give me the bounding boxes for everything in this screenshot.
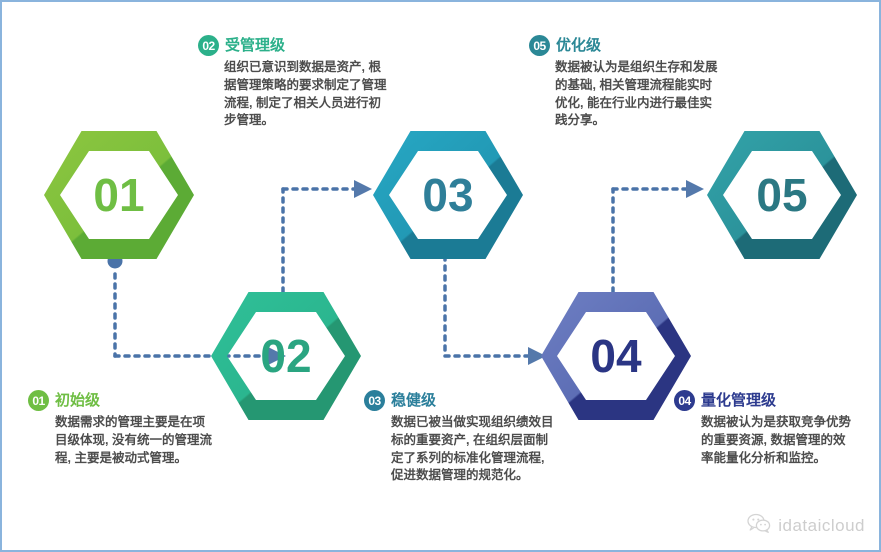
level-badge-04: 04 — [674, 390, 695, 411]
watermark-text: idataicloud — [778, 516, 865, 536]
level-body-02: 组织已意识到数据是资产, 根据管理策略的要求制定了管理流程, 制定了相关人员进行… — [224, 59, 390, 130]
level-title-02: 受管理级 — [225, 38, 285, 53]
watermark: idataicloud — [747, 513, 865, 538]
level-title-03: 稳健级 — [391, 393, 436, 408]
level-head-05: 05 优化级 — [529, 35, 721, 56]
hexagon-level-01[interactable]: 01 — [44, 129, 194, 261]
wechat-icon — [747, 513, 771, 538]
level-block-05: 05 优化级 数据被认为是组织生存和发展的基础, 相关管理流程能实时优化, 能在… — [529, 35, 721, 130]
level-head-02: 02 受管理级 — [198, 35, 390, 56]
hexagon-level-05[interactable]: 05 — [707, 129, 857, 261]
level-badge-05: 05 — [529, 35, 550, 56]
hexagon-level-04[interactable]: 04 — [541, 290, 691, 422]
infographic-canvas: 01 02 — [0, 0, 881, 552]
level-body-05: 数据被认为是组织生存和发展的基础, 相关管理流程能实时优化, 能在行业内进行最佳… — [555, 59, 721, 130]
level-body-04: 数据被认为是获取竞争优势的重要资源, 数据管理的效率能量化分析和监控。 — [701, 414, 854, 467]
level-badge-03: 03 — [364, 390, 385, 411]
level-head-03: 03 稳健级 — [364, 390, 559, 411]
level-block-02: 02 受管理级 组织已意识到数据是资产, 根据管理策略的要求制定了管理流程, 制… — [198, 35, 390, 130]
hexagon-level-02[interactable]: 02 — [211, 290, 361, 422]
level-block-01: 01 初始级 数据需求的管理主要是在项目级体现, 没有统一的管理流程, 主要是被… — [28, 390, 213, 467]
level-title-04: 量化管理级 — [701, 393, 776, 408]
level-title-01: 初始级 — [55, 393, 100, 408]
level-block-04: 04 量化管理级 数据被认为是获取竞争优势的重要资源, 数据管理的效率能量化分析… — [674, 390, 854, 467]
level-head-04: 04 量化管理级 — [674, 390, 854, 411]
hexagon-level-03[interactable]: 03 — [373, 129, 523, 261]
level-block-03: 03 稳健级 数据已被当做实现组织绩效目标的重要资产, 在组织层面制定了系列的标… — [364, 390, 559, 485]
level-badge-01: 01 — [28, 390, 49, 411]
level-badge-02: 02 — [198, 35, 219, 56]
level-body-01: 数据需求的管理主要是在项目级体现, 没有统一的管理流程, 主要是被动式管理。 — [55, 414, 213, 467]
level-body-03: 数据已被当做实现组织绩效目标的重要资产, 在组织层面制定了系列的标准化管理流程,… — [391, 414, 559, 485]
level-title-05: 优化级 — [556, 38, 601, 53]
level-head-01: 01 初始级 — [28, 390, 213, 411]
